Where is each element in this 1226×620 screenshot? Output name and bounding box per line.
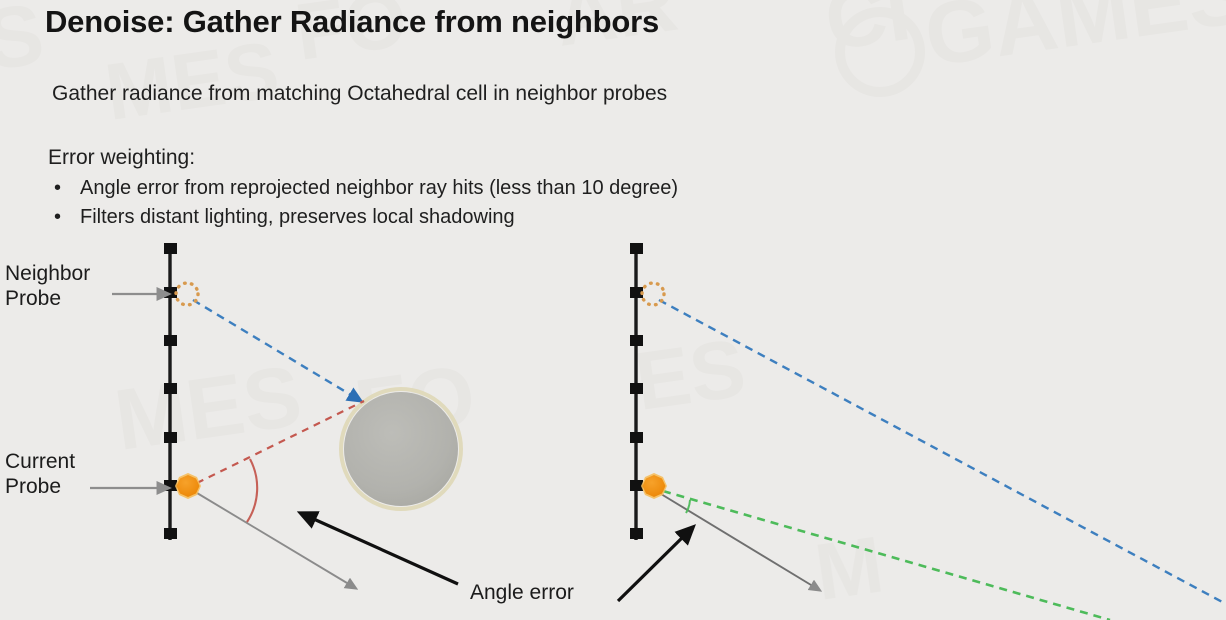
left-scene-with-occluder (164, 243, 461, 586)
neighbor-probe-marker-icon[interactable] (642, 283, 664, 305)
current-ray-green-far (663, 491, 1110, 620)
probe-diagram (0, 0, 1226, 620)
current-probe-marker-icon[interactable] (175, 473, 201, 499)
reprojected-ray-red (197, 401, 364, 483)
neighbor-ray-blue (193, 300, 356, 398)
angle-error-arrow-left (307, 516, 458, 584)
occluder-sphere (344, 392, 458, 506)
current-ray-grey (197, 493, 352, 586)
right-scene-no-occluder (630, 243, 1226, 620)
neighbor-probe-marker-icon[interactable] (176, 283, 198, 305)
current-ray-grey (661, 494, 816, 588)
angle-error-arc (247, 459, 257, 522)
slide-canvas: S MES FO AR CI GAMES MES FO ES M Denoise… (0, 0, 1226, 620)
angle-error-arrow-right (618, 532, 688, 601)
neighbor-ray-blue-far (659, 300, 1226, 604)
